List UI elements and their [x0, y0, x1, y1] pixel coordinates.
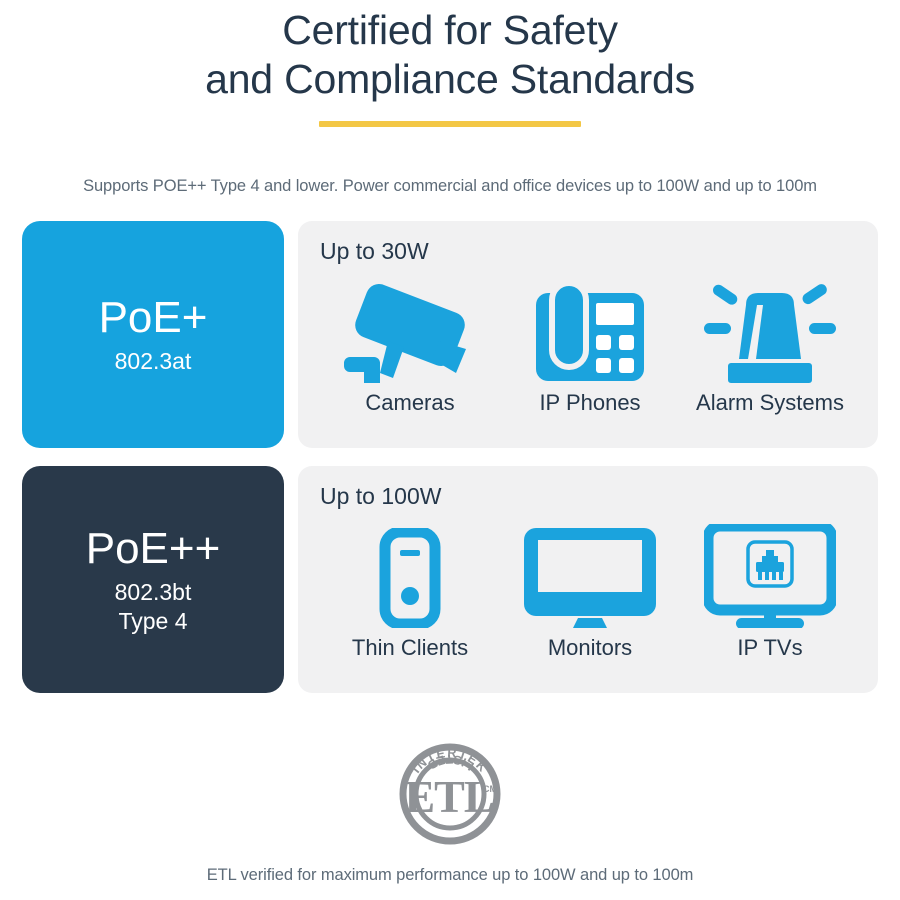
device-label-ip-tvs: IP TVs	[737, 634, 802, 662]
poe-tier-list: PoE+ 802.3at Up to 30W	[0, 221, 900, 693]
subtitle-text: Supports POE++ Type 4 and lower. Power c…	[0, 175, 900, 197]
poe-plus-plus-badge: PoE++ 802.3bt Type 4	[22, 466, 284, 693]
etl-listed-intertek-logo: INTERTEK LISTED ETL CM	[391, 736, 509, 848]
alarm-beacon-icon	[700, 271, 840, 383]
poe-plus-plus-device-panel: Up to 100W Thin Clients	[298, 466, 878, 693]
poe-plus-badge: PoE+ 802.3at	[22, 221, 284, 448]
security-camera-icon	[344, 271, 476, 383]
poe-plus-plus-device-list: Thin Clients Monitors	[320, 516, 860, 662]
ip-tv-icon	[704, 516, 836, 628]
device-label-alarm-systems: Alarm Systems	[696, 389, 844, 417]
poe-plus-plus-power-heading: Up to 100W	[320, 482, 860, 510]
etl-superscript-cm: CM	[483, 784, 497, 794]
device-item-ip-tvs: IP TVs	[681, 516, 859, 662]
device-label-cameras: Cameras	[365, 389, 454, 417]
device-label-thin-clients: Thin Clients	[352, 634, 468, 662]
page-title-line-1: Certified for Safety	[0, 6, 900, 55]
thin-client-tower-icon	[379, 516, 441, 628]
poe-plus-device-panel: Up to 30W Cameras	[298, 221, 878, 448]
device-item-ip-phones: IP Phones	[501, 271, 679, 417]
page-title-line-2: and Compliance Standards	[0, 55, 900, 104]
device-label-ip-phones: IP Phones	[539, 389, 640, 417]
etl-logo-wrap: INTERTEK LISTED ETL CM	[0, 736, 900, 848]
device-label-monitors: Monitors	[548, 634, 632, 662]
poe-plus-plus-badge-type: Type 4	[118, 607, 187, 636]
device-item-thin-clients: Thin Clients	[321, 516, 499, 662]
tier-row-poe-plus: PoE+ 802.3at Up to 30W	[22, 221, 878, 448]
certification-footer: INTERTEK LISTED ETL CM ETL verified for …	[0, 736, 900, 886]
device-item-alarm-systems: Alarm Systems	[681, 271, 859, 417]
title-accent-rule	[319, 121, 581, 127]
etl-mark-text: ETL	[404, 771, 493, 822]
device-item-cameras: Cameras	[321, 271, 499, 417]
desk-phone-icon	[534, 271, 646, 383]
monitor-icon	[522, 516, 658, 628]
page-header: Certified for Safety and Compliance Stan…	[0, 0, 900, 127]
device-item-monitors: Monitors	[501, 516, 679, 662]
poe-plus-power-heading: Up to 30W	[320, 237, 860, 265]
poe-plus-badge-title: PoE+	[99, 293, 208, 343]
poe-plus-badge-standard: 802.3at	[115, 347, 192, 376]
tier-row-poe-plus-plus: PoE++ 802.3bt Type 4 Up to 100W Thin Cli…	[22, 466, 878, 693]
certification-note: ETL verified for maximum performance up …	[0, 864, 900, 886]
poe-plus-plus-badge-title: PoE++	[86, 524, 221, 574]
poe-plus-plus-badge-standard: 802.3bt	[115, 578, 192, 607]
poe-plus-device-list: Cameras IP Phones	[320, 271, 860, 417]
